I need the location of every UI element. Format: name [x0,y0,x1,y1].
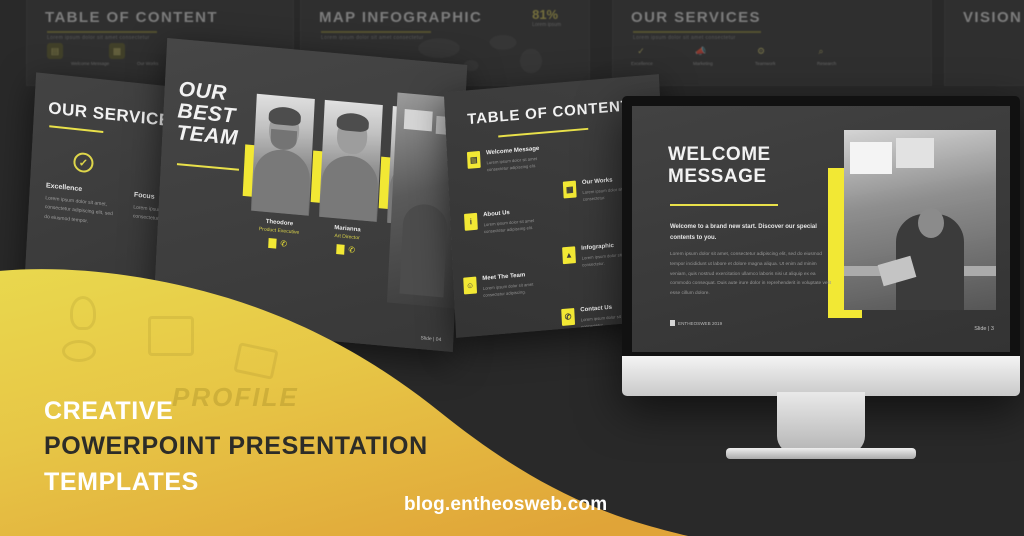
background-icon-label: Teamwork [755,61,776,66]
background-icon-label: Welcome Message [71,61,109,66]
promo-banner: TABLE OF CONTENT Lorem ipsum dolor sit a… [0,0,1024,536]
background-slide-title: OUR SERVICES [631,9,761,26]
background-icon-label: Research [817,61,836,66]
background-slide-subtitle: Lorem ipsum dolor sit amet consectetur [47,35,150,41]
toc-body: Lorem ipsum dolor sit amet consectetur a… [486,154,554,174]
photo-beard [270,129,297,151]
slide-number: Slide | 3 [974,326,994,332]
map-percent-badge: 81% Lorem ipsum [532,7,561,28]
background-icon-row: ▤ ▦ [47,43,125,59]
photo-body [252,147,311,215]
photo-hair [268,106,301,127]
background-slide-subtitle: Lorem ipsum dolor sit amet consectetur [633,35,736,41]
photo-body [320,153,379,221]
background-slide-services: OUR SERVICES Lorem ipsum dolor sit amet … [612,0,932,86]
title-underline [670,204,778,206]
monitor-base [726,448,916,459]
background-icon-label: Our Works [137,61,158,66]
background-icon-label: Excellence [631,61,653,66]
photo-hair [336,112,369,133]
toc-item-about-us[interactable]: i About Us Lorem ipsum dolor sit amet co… [464,207,551,238]
slide-title-line2: MESSAGE [668,166,771,188]
headline-line-2: POWERPOINT PRESENTATION [44,429,428,465]
service-body: Lorem ipsum dolor sit amet, consectetur … [44,194,118,229]
title-underline [498,128,588,138]
badge-value: 81% [532,7,558,22]
title-underline [633,31,761,33]
background-slide-title: MAP INFOGRAPHIC [319,9,482,26]
member-photo [319,100,383,222]
grid-icon: ▦ [563,181,577,199]
badge-label: Lorem ipsum [532,22,561,28]
background-slide-subtitle: Lorem ipsum dolor sit amet consectetur [321,35,424,41]
banner-headline: CREATIVE POWERPOINT PRESENTATION TEMPLAT… [44,394,428,501]
background-slide-title: TABLE OF CONTENT [45,9,218,26]
background-icon-label: Marketing [693,61,713,66]
person-head [918,208,944,238]
megaphone-icon: 📣 [693,43,709,59]
headline-line-3: TEMPLATES [44,465,428,501]
website-url[interactable]: blog.entheosweb.com [404,494,607,516]
background-icon-row: ✓ 📣 ⚙ ⌕ [633,43,829,59]
list-icon: ▤ [47,43,63,59]
slide-title-line3: TEAM [176,122,239,149]
puzzle-icon: ⚙ [753,43,769,59]
slide-title: WELCOME MESSAGE [668,144,771,188]
title-underline [321,31,431,33]
background-slide-vision: VISION [944,0,1024,86]
headline-line-1: CREATIVE [44,394,428,430]
slide-title: OUR BEST TEAM [176,79,241,149]
title-underline [49,125,103,133]
team-member[interactable]: Theodore Product Executive ✆ [249,94,315,252]
toc-body: Lorem ipsum dolor sit amet consectetur a… [483,216,551,236]
search-icon: ⌕ [813,43,829,59]
member-photo [251,94,315,216]
team-member[interactable]: Marianna Art Director ✆ [317,100,383,258]
monitor-graphic [404,109,433,131]
info-icon: i [464,213,478,231]
slide-title-line1: WELCOME [668,144,771,166]
welcome-photo [844,130,996,310]
grid-icon: ▦ [109,43,125,59]
title-underline [47,31,157,33]
check-badge-icon: ✓ [633,43,649,59]
background-slide-title: VISION [963,9,1022,26]
service-column: Excellence Lorem ipsum dolor sit amet, c… [44,182,118,229]
check-badge-icon: ✓ [73,152,94,174]
slide-title: TABLE OF CONTENT [467,98,631,127]
monitor-stand [777,392,865,454]
toc-item-welcome-message[interactable]: ▤ Welcome Message Lorem ipsum dolor sit … [467,145,554,176]
list-icon: ▤ [467,151,481,169]
monitor-graphic [850,142,892,174]
monitor-graphic [896,138,934,168]
title-underline [177,163,239,171]
